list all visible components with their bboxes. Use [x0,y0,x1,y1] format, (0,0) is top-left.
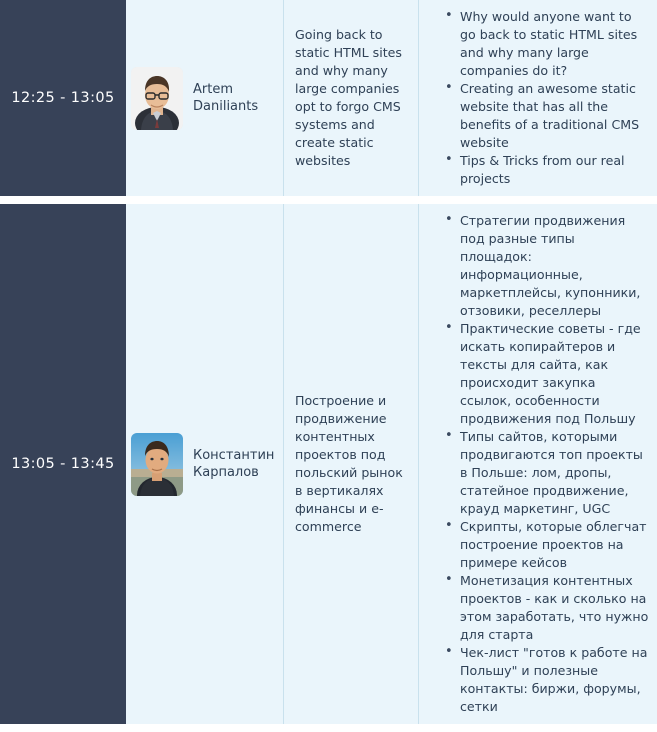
session-speaker-cell: Константин Карпалов [126,204,283,724]
list-item: Скрипты, которые облегчат построение про… [445,518,649,572]
session-topics-cell: Why would anyone want to go back to stat… [418,0,657,196]
list-item: Типы сайтов, которыми продвигаются топ п… [445,428,649,518]
schedule-table: 12:25 - 13:05 Artem [0,0,657,732]
list-item: Чек-лист "готов к работе на Польшу" и по… [445,644,649,716]
session-time-cell: 12:25 - 13:05 [0,0,126,196]
list-item: Монетизация контентных проектов - как и … [445,572,649,644]
avatar [131,433,183,496]
session-topics-cell: Стратегии продвижения под разные типы пл… [418,204,657,724]
speaker-photo-konstantin-icon [131,433,183,496]
speaker-photo-artem-icon [131,67,183,130]
list-item: Стратегии продвижения под разные типы пл… [445,212,649,320]
session-title: Going back to static HTML sites and why … [295,26,409,170]
session-time: 13:05 - 13:45 [11,456,114,472]
session-title: Построение и продвижение контентных прое… [295,392,409,536]
list-item: Creating an awesome static website that … [445,80,649,152]
list-item: Tips & Tricks from our real projects [445,152,649,188]
list-item: Why would anyone want to go back to stat… [445,8,649,80]
speaker-name: Artem Daniliants [193,81,258,115]
session-row: 13:05 - 13:45 [0,204,657,724]
session-time: 12:25 - 13:05 [11,90,114,106]
session-title-cell: Построение и продвижение контентных прое… [283,204,418,724]
avatar [131,67,183,130]
session-speaker-cell: Artem Daniliants [126,0,283,196]
session-row: 12:25 - 13:05 Artem [0,0,657,196]
list-item: Практические советы - где искать копирай… [445,320,649,428]
session-time-cell: 13:05 - 13:45 [0,204,126,724]
session-topics-list: Why would anyone want to go back to stat… [425,8,649,188]
session-title-cell: Going back to static HTML sites and why … [283,0,418,196]
speaker-name: Константин Карпалов [193,447,274,481]
session-topics-list: Стратегии продвижения под разные типы пл… [425,212,649,716]
